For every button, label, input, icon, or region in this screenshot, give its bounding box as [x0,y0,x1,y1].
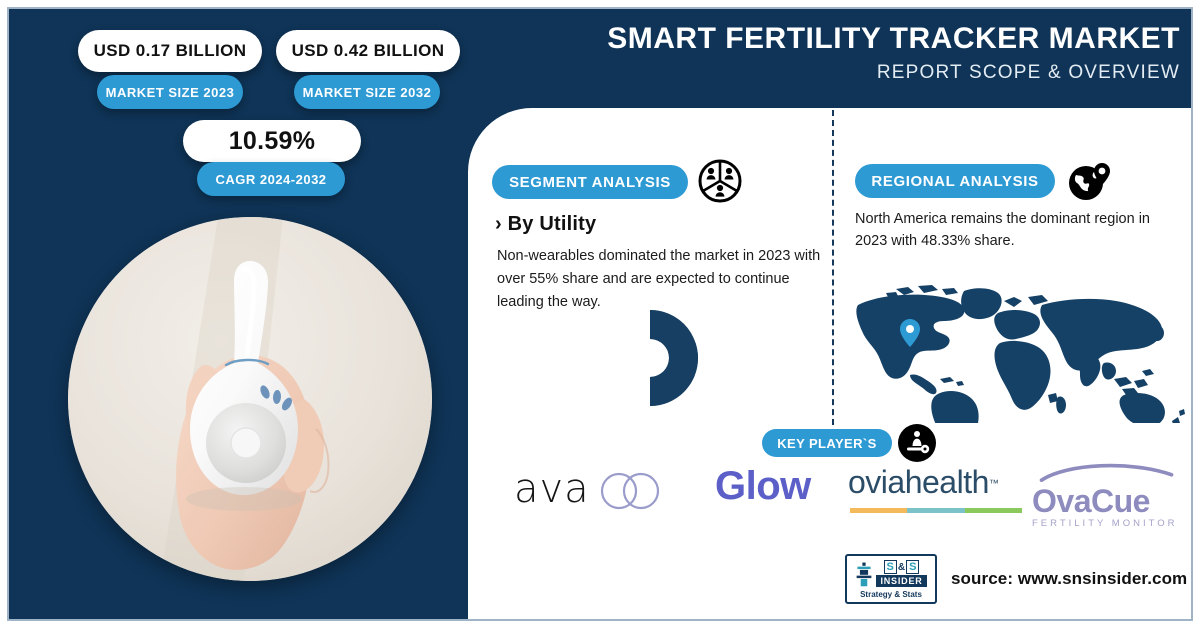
source-text: source: www.snsinsider.com [951,569,1187,589]
sns-logo-tagline: Strategy & Stats [860,590,922,599]
logo-ovacue-swoosh-icon [1032,462,1182,482]
sns-logo-s2: S [906,560,919,574]
page-title: SMART FERTILITY TRACKER MARKET [520,22,1180,55]
cagr-label: CAGR 2024-2032 [197,162,345,196]
segment-analysis-pill: SEGMENT ANALYSIS [492,165,688,199]
logo-ovia-text-a: ovia [848,464,905,500]
infographic-canvas: USD 0.17 BILLION MARKET SIZE 2023 USD 0.… [0,0,1200,628]
logo-ava-circles-icon [596,470,666,512]
logo-ovia-text-b: health [905,464,989,500]
footer: S & S INSIDER Strategy & Stats source: w… [845,552,1195,606]
market-size-2032-value: USD 0.42 BILLION [276,30,460,72]
page-subtitle: REPORT SCOPE & OVERVIEW [520,62,1180,84]
product-photo-illustration [68,217,432,581]
market-size-2023-label: MARKET SIZE 2023 [97,75,243,109]
logo-ovacue: OvaCue FERTILITY MONITOR [1032,462,1182,529]
globe-pin-icon [1066,159,1114,203]
regional-body-text: North America remains the dominant regio… [855,208,1175,253]
logo-ovacue-subtitle: FERTILITY MONITOR [1032,518,1182,529]
sns-insider-logo: S & S INSIDER Strategy & Stats [845,554,937,604]
sns-logo-insider: INSIDER [876,575,926,587]
segment-heading: › By Utility [495,213,596,236]
logo-ava: ava [514,466,666,512]
donut-slice-other [650,343,698,406]
key-player-logos: ava Glow oviahealth™ OvaCue [500,462,1190,524]
cagr-value: 10.59% [183,120,361,162]
by-utility-donut-chart [590,303,710,413]
market-size-2032-label: MARKET SIZE 2032 [294,75,440,109]
logo-ava-text: ava [514,466,590,512]
product-photo [68,217,432,581]
sns-tower-icon [855,560,873,588]
sns-logo-amp: & [898,562,905,573]
world-map [852,283,1188,423]
logo-ovacue-text-a: Ova [1032,483,1091,519]
logo-ovia-trademark: ™ [989,479,999,490]
segment-pie-people-icon [698,159,742,203]
vertical-dashed-divider [832,110,834,435]
key-players-pill: KEY PLAYER`S [762,429,892,457]
logo-ovia-underline [850,508,1022,513]
logo-glow-text: Glow [715,464,811,509]
logo-glow: Glow [715,464,811,509]
logo-ovacue-text-b: Cue [1091,483,1150,519]
sns-logo-s1: S [884,560,897,574]
world-map-landmasses [856,285,1185,423]
header: SMART FERTILITY TRACKER MARKET REPORT SC… [520,22,1180,84]
logo-ovia-health: oviahealth™ [848,464,999,501]
person-key-icon [898,424,936,462]
regional-analysis-pill: REGIONAL ANALYSIS [855,164,1055,198]
market-size-2023-value: USD 0.17 BILLION [78,30,262,72]
